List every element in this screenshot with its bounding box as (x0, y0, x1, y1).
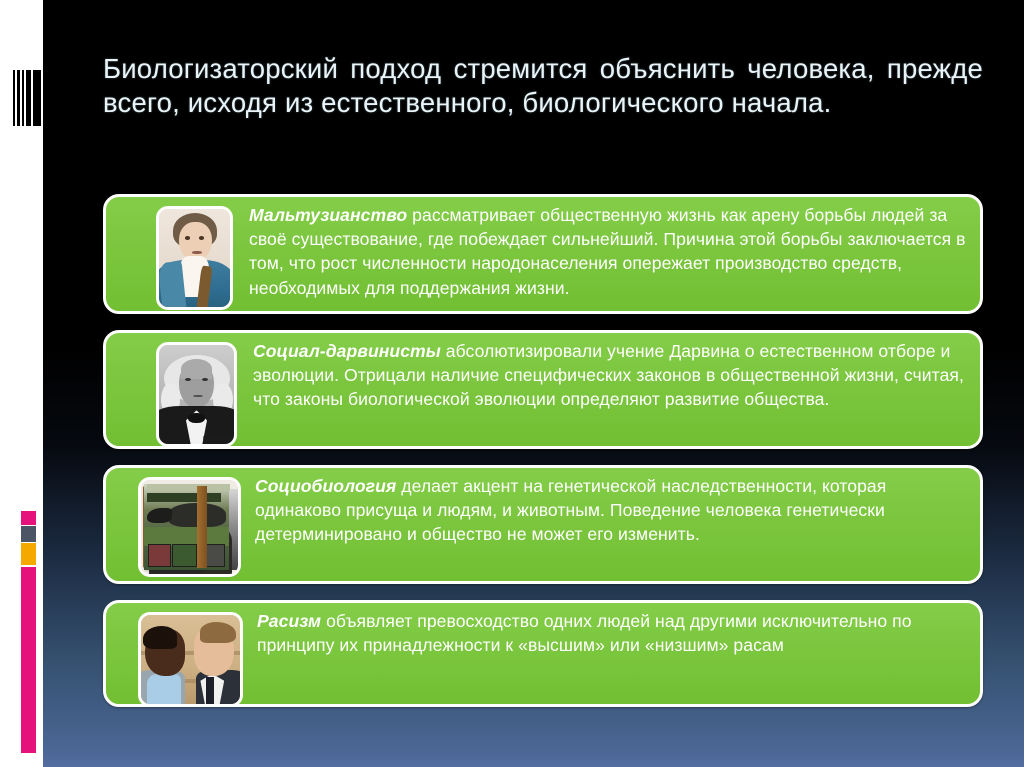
card-body-racism: объявляет превосходство одних людей над … (257, 611, 912, 655)
photo-two-men-image (138, 612, 243, 707)
portrait-spencer-image (156, 342, 237, 447)
slate-block (21, 526, 36, 542)
sociobiology-book-photo-image (138, 477, 241, 577)
amber-block (21, 543, 36, 565)
card-term-malthusianism: Мальтузианство (249, 205, 407, 225)
presentation-slide: Биологизаторский подход стремится объясн… (0, 0, 1024, 767)
card-text-racism: Расизм объявляет превосходство одних люд… (257, 609, 968, 657)
card-malthusianism: Мальтузианство рассматривает общественну… (103, 194, 983, 314)
portrait-malthus-image (156, 206, 233, 310)
card-text-malthusianism: Мальтузианство рассматривает общественну… (249, 203, 968, 300)
color-block-column (21, 511, 36, 753)
card-list: Мальтузианство рассматривает общественну… (103, 194, 983, 723)
card-text-social-darwinists: Социал-дарвинисты абсолютизировали учени… (253, 339, 968, 412)
card-social-darwinists: Социал-дарвинисты абсолютизировали учени… (103, 330, 983, 449)
barcode-icon (13, 70, 43, 126)
card-term-sociobiology: Социобиология (255, 476, 396, 496)
card-term-racism: Расизм (257, 611, 321, 631)
card-racism: Расизм объявляет превосходство одних люд… (103, 600, 983, 707)
pink-bar (21, 567, 36, 753)
page-title: Биологизаторский подход стремится объясн… (103, 52, 983, 120)
card-sociobiology: Социобиология делает акцент на генетичес… (103, 465, 983, 584)
pink-block (21, 511, 36, 525)
left-rail-mask (43, 0, 96, 767)
card-text-sociobiology: Социобиология делает акцент на генетичес… (255, 474, 968, 547)
card-term-social-darwinists: Социал-дарвинисты (253, 341, 441, 361)
